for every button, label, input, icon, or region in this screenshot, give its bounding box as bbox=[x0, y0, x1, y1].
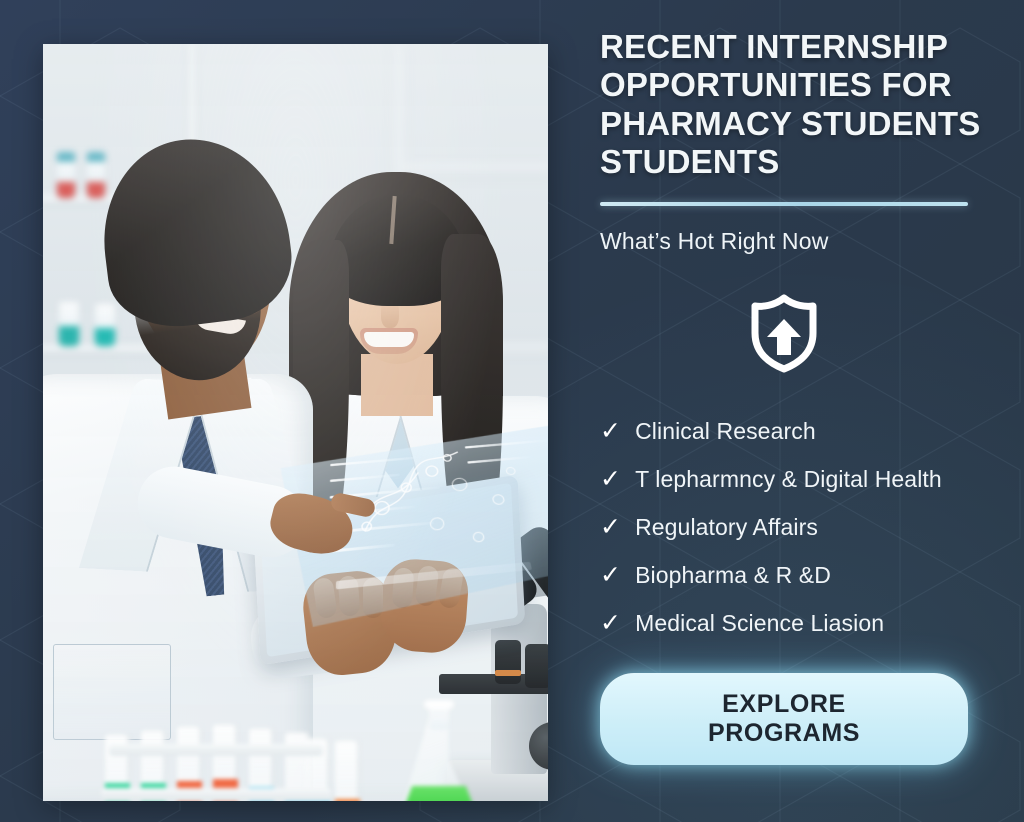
check-icon: ✓ bbox=[600, 419, 621, 444]
check-icon: ✓ bbox=[600, 515, 621, 540]
list-item: ✓ Medical Science Liasion bbox=[600, 610, 992, 637]
list-item-label: Medical Science Liasion bbox=[635, 610, 884, 637]
benefits-list: ✓ Clinical Research ✓ T lepharmncy & Dig… bbox=[600, 418, 992, 637]
check-icon: ✓ bbox=[600, 611, 621, 636]
subtitle: What’s Hot Right Now bbox=[600, 228, 992, 255]
check-icon: ✓ bbox=[600, 467, 621, 492]
test-tube bbox=[335, 740, 360, 801]
explore-programs-button[interactable]: EXPLORE PROGRAMS bbox=[600, 673, 968, 765]
list-item-label: Clinical Research bbox=[635, 418, 816, 445]
list-item: ✓ T lepharmncy & Digital Health bbox=[600, 466, 992, 493]
vial bbox=[87, 152, 105, 198]
page-title: RECENT INTERNSHIP OPPORTUNITIES FOR PHAR… bbox=[600, 28, 992, 181]
list-item-label: Regulatory Affairs bbox=[635, 514, 818, 541]
shield-up-arrow-icon bbox=[748, 293, 820, 378]
list-item-label: Biopharma & R &D bbox=[635, 562, 831, 589]
list-item: ✓ Clinical Research bbox=[600, 418, 992, 445]
vial bbox=[95, 304, 115, 346]
list-item: ✓ Biopharma & R &D bbox=[600, 562, 992, 589]
poster-canvas: RECENT INTERNSHIP OPPORTUNITIES FOR PHAR… bbox=[0, 0, 1024, 822]
check-icon: ✓ bbox=[600, 563, 621, 588]
content-column: RECENT INTERNSHIP OPPORTUNITIES FOR PHAR… bbox=[600, 28, 992, 765]
title-divider bbox=[600, 202, 968, 206]
list-item: ✓ Regulatory Affairs bbox=[600, 514, 992, 541]
list-item-label: T lepharmncy & Digital Health bbox=[635, 466, 942, 493]
vial bbox=[59, 302, 79, 346]
hero-photo bbox=[43, 44, 548, 801]
vial bbox=[57, 152, 75, 198]
